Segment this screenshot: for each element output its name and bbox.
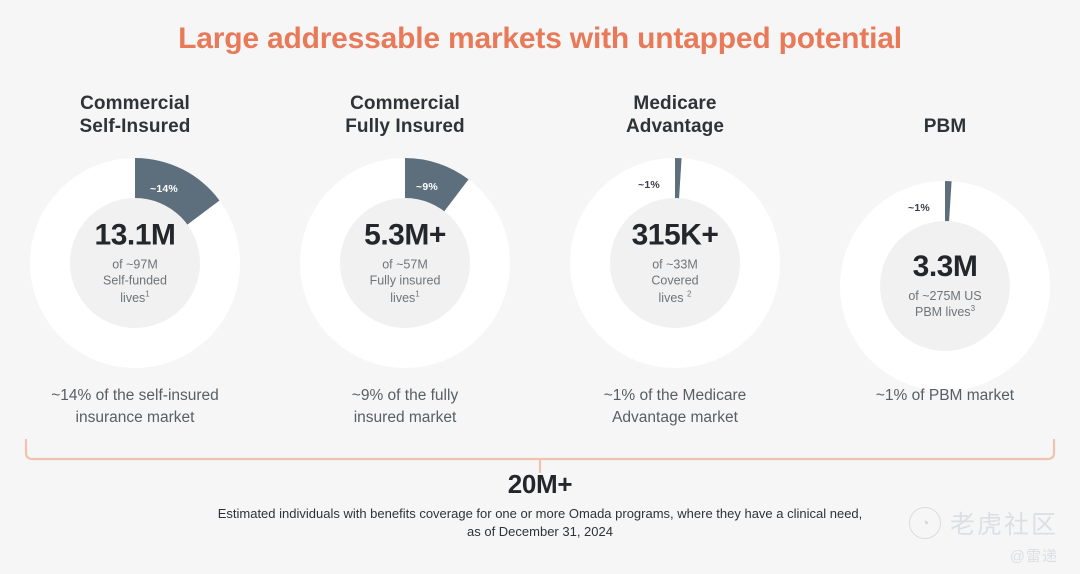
donut-svg xyxy=(564,152,786,374)
caption-line2: insurance market xyxy=(16,407,254,429)
watermark-handle: @雷递 xyxy=(909,545,1058,566)
column-caption: ~1% of the Medicare Advantage market xyxy=(540,385,810,430)
column-caption: ~1% of PBM market xyxy=(810,385,1080,407)
donut-hole xyxy=(610,198,740,328)
column-heading-line1: Commercial xyxy=(345,92,465,115)
column-heading-line2: Self-Insured xyxy=(80,115,191,138)
summary-note: Estimated individuals with benefits cove… xyxy=(0,505,1080,542)
summary-note-line2: as of December 31, 2024 xyxy=(0,523,1080,541)
caption-line1: ~14% of the self-insured xyxy=(16,385,254,407)
caption-line1: ~1% of PBM market xyxy=(826,385,1064,407)
summary-block: 20M+ Estimated individuals with benefits… xyxy=(0,470,1080,542)
column-caption: ~14% of the self-insured insurance marke… xyxy=(0,385,270,430)
column-heading: Medicare Advantage xyxy=(626,92,724,140)
slide-root: Large addressable markets with untapped … xyxy=(0,0,1080,574)
donut-hole xyxy=(340,198,470,328)
market-column-pbm: PBM ~1% 3.3M of ~275M US PBM lives3 xyxy=(810,92,1080,437)
donut-percent-label: ~1% xyxy=(638,179,660,191)
column-heading: Commercial Fully Insured xyxy=(345,92,465,140)
market-columns: Commercial Self-Insured ~14% 13.1M of ~9… xyxy=(0,92,1080,437)
caption-line2: Advantage market xyxy=(556,407,794,429)
column-heading-line1: PBM xyxy=(924,115,967,138)
donut-svg xyxy=(24,152,246,374)
bracket-path xyxy=(26,440,1054,459)
caption-line1: ~9% of the fully xyxy=(286,385,524,407)
page-title: Large addressable markets with untapped … xyxy=(0,22,1080,56)
column-heading-line1: Medicare xyxy=(626,92,724,115)
market-column-commercial-fully-insured: Commercial Fully Insured ~9% 5.3M+ of ~5… xyxy=(270,92,540,437)
column-heading-line2: Fully Insured xyxy=(345,115,465,138)
market-column-commercial-self-insured: Commercial Self-Insured ~14% 13.1M of ~9… xyxy=(0,92,270,437)
column-heading-line1: Commercial xyxy=(80,92,191,115)
donut-percent-label: ~9% xyxy=(416,181,438,193)
summary-value: 20M+ xyxy=(0,470,1080,500)
donut-percent-label: ~14% xyxy=(150,183,178,195)
column-heading: Commercial Self-Insured xyxy=(80,92,191,140)
column-caption: ~9% of the fully insured market xyxy=(270,385,540,430)
donut-chart: ~1% 315K+ of ~33M Covered lives 2 xyxy=(564,152,786,374)
caption-line2: insured market xyxy=(286,407,524,429)
donut-hole xyxy=(880,221,1010,351)
market-column-medicare-advantage: Medicare Advantage ~1% 315K+ of ~33M Cov… xyxy=(540,92,810,437)
column-heading-line2: Advantage xyxy=(626,115,724,138)
donut-chart: ~1% 3.3M of ~275M US PBM lives3 xyxy=(834,175,1056,397)
donut-svg xyxy=(834,175,1056,397)
donut-hole xyxy=(70,198,200,328)
donut-chart: ~14% 13.1M of ~97M Self-funded lives1 xyxy=(24,152,246,374)
column-heading: PBM xyxy=(924,92,967,163)
donut-percent-label: ~1% xyxy=(908,202,930,214)
caption-line1: ~1% of the Medicare xyxy=(556,385,794,407)
bracket-connector xyxy=(24,437,1056,473)
donut-svg xyxy=(294,152,516,374)
donut-chart: ~9% 5.3M+ of ~57M Fully insured lives1 xyxy=(294,152,516,374)
summary-note-line1: Estimated individuals with benefits cove… xyxy=(0,505,1080,523)
